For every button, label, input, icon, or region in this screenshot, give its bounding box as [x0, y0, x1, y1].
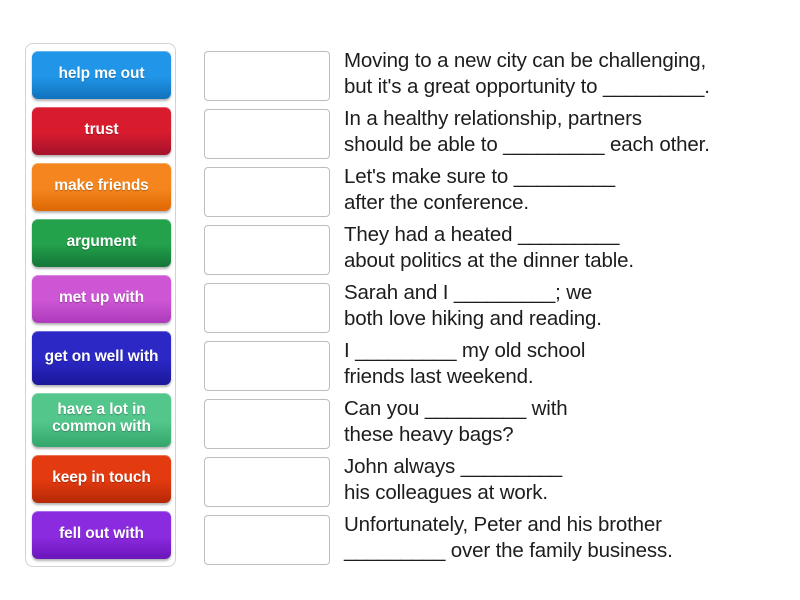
word-tile-8[interactable]: fell out with: [32, 511, 171, 559]
word-tile-3[interactable]: argument: [32, 219, 171, 267]
word-tile-label: argument: [67, 234, 137, 251]
sentence-rows: Moving to a new city can be challenging,…: [204, 48, 782, 570]
word-bank: help me out trust make friends argument …: [25, 43, 176, 567]
dropzone-3[interactable]: [204, 225, 330, 275]
dropzone-8[interactable]: [204, 515, 330, 565]
sentence-text-1: In a healthy relationship, partners shou…: [344, 106, 782, 158]
word-tile-7[interactable]: keep in touch: [32, 455, 171, 503]
sentence-text-2: Let's make sure to _________ after the c…: [344, 164, 782, 216]
sentence-text-5: I _________ my old school friends last w…: [344, 338, 782, 390]
sentence-row: In a healthy relationship, partners shou…: [204, 106, 782, 160]
sentence-row: They had a heated _________ about politi…: [204, 222, 782, 276]
sentence-row: Unfortunately, Peter and his brother ___…: [204, 512, 782, 566]
sentence-row: Can you _________ with these heavy bags?: [204, 396, 782, 450]
sentence-text-7: John always _________ his colleagues at …: [344, 454, 782, 506]
matchup-activity: help me out trust make friends argument …: [0, 0, 800, 600]
sentence-row: Sarah and I _________; we both love hiki…: [204, 280, 782, 334]
word-tile-2[interactable]: make friends: [32, 163, 171, 211]
sentence-row: Let's make sure to _________ after the c…: [204, 164, 782, 218]
word-tile-0[interactable]: help me out: [32, 51, 171, 99]
sentence-row: John always _________ his colleagues at …: [204, 454, 782, 508]
dropzone-6[interactable]: [204, 399, 330, 449]
dropzone-5[interactable]: [204, 341, 330, 391]
word-tile-label: keep in touch: [52, 470, 151, 487]
word-tile-4[interactable]: met up with: [32, 275, 171, 323]
sentence-row: I _________ my old school friends last w…: [204, 338, 782, 392]
word-tile-5[interactable]: get on well with: [32, 331, 171, 385]
sentence-text-4: Sarah and I _________; we both love hiki…: [344, 280, 782, 332]
dropzone-0[interactable]: [204, 51, 330, 101]
dropzone-1[interactable]: [204, 109, 330, 159]
dropzone-7[interactable]: [204, 457, 330, 507]
word-tile-6[interactable]: have a lot in common with: [32, 393, 171, 447]
word-tile-label: fell out with: [59, 526, 144, 543]
word-tile-label: help me out: [59, 66, 145, 83]
sentence-row: Moving to a new city can be challenging,…: [204, 48, 782, 102]
dropzone-4[interactable]: [204, 283, 330, 333]
sentence-text-0: Moving to a new city can be challenging,…: [344, 48, 782, 100]
sentence-text-3: They had a heated _________ about politi…: [344, 222, 782, 274]
sentence-text-8: Unfortunately, Peter and his brother ___…: [344, 512, 782, 564]
word-tile-label: met up with: [59, 290, 144, 307]
word-tile-label: make friends: [54, 178, 148, 195]
word-tile-label: have a lot in common with: [37, 402, 166, 435]
dropzone-2[interactable]: [204, 167, 330, 217]
word-tile-1[interactable]: trust: [32, 107, 171, 155]
sentence-text-6: Can you _________ with these heavy bags?: [344, 396, 782, 448]
word-tile-label: trust: [85, 122, 119, 139]
word-tile-label: get on well with: [45, 349, 159, 366]
